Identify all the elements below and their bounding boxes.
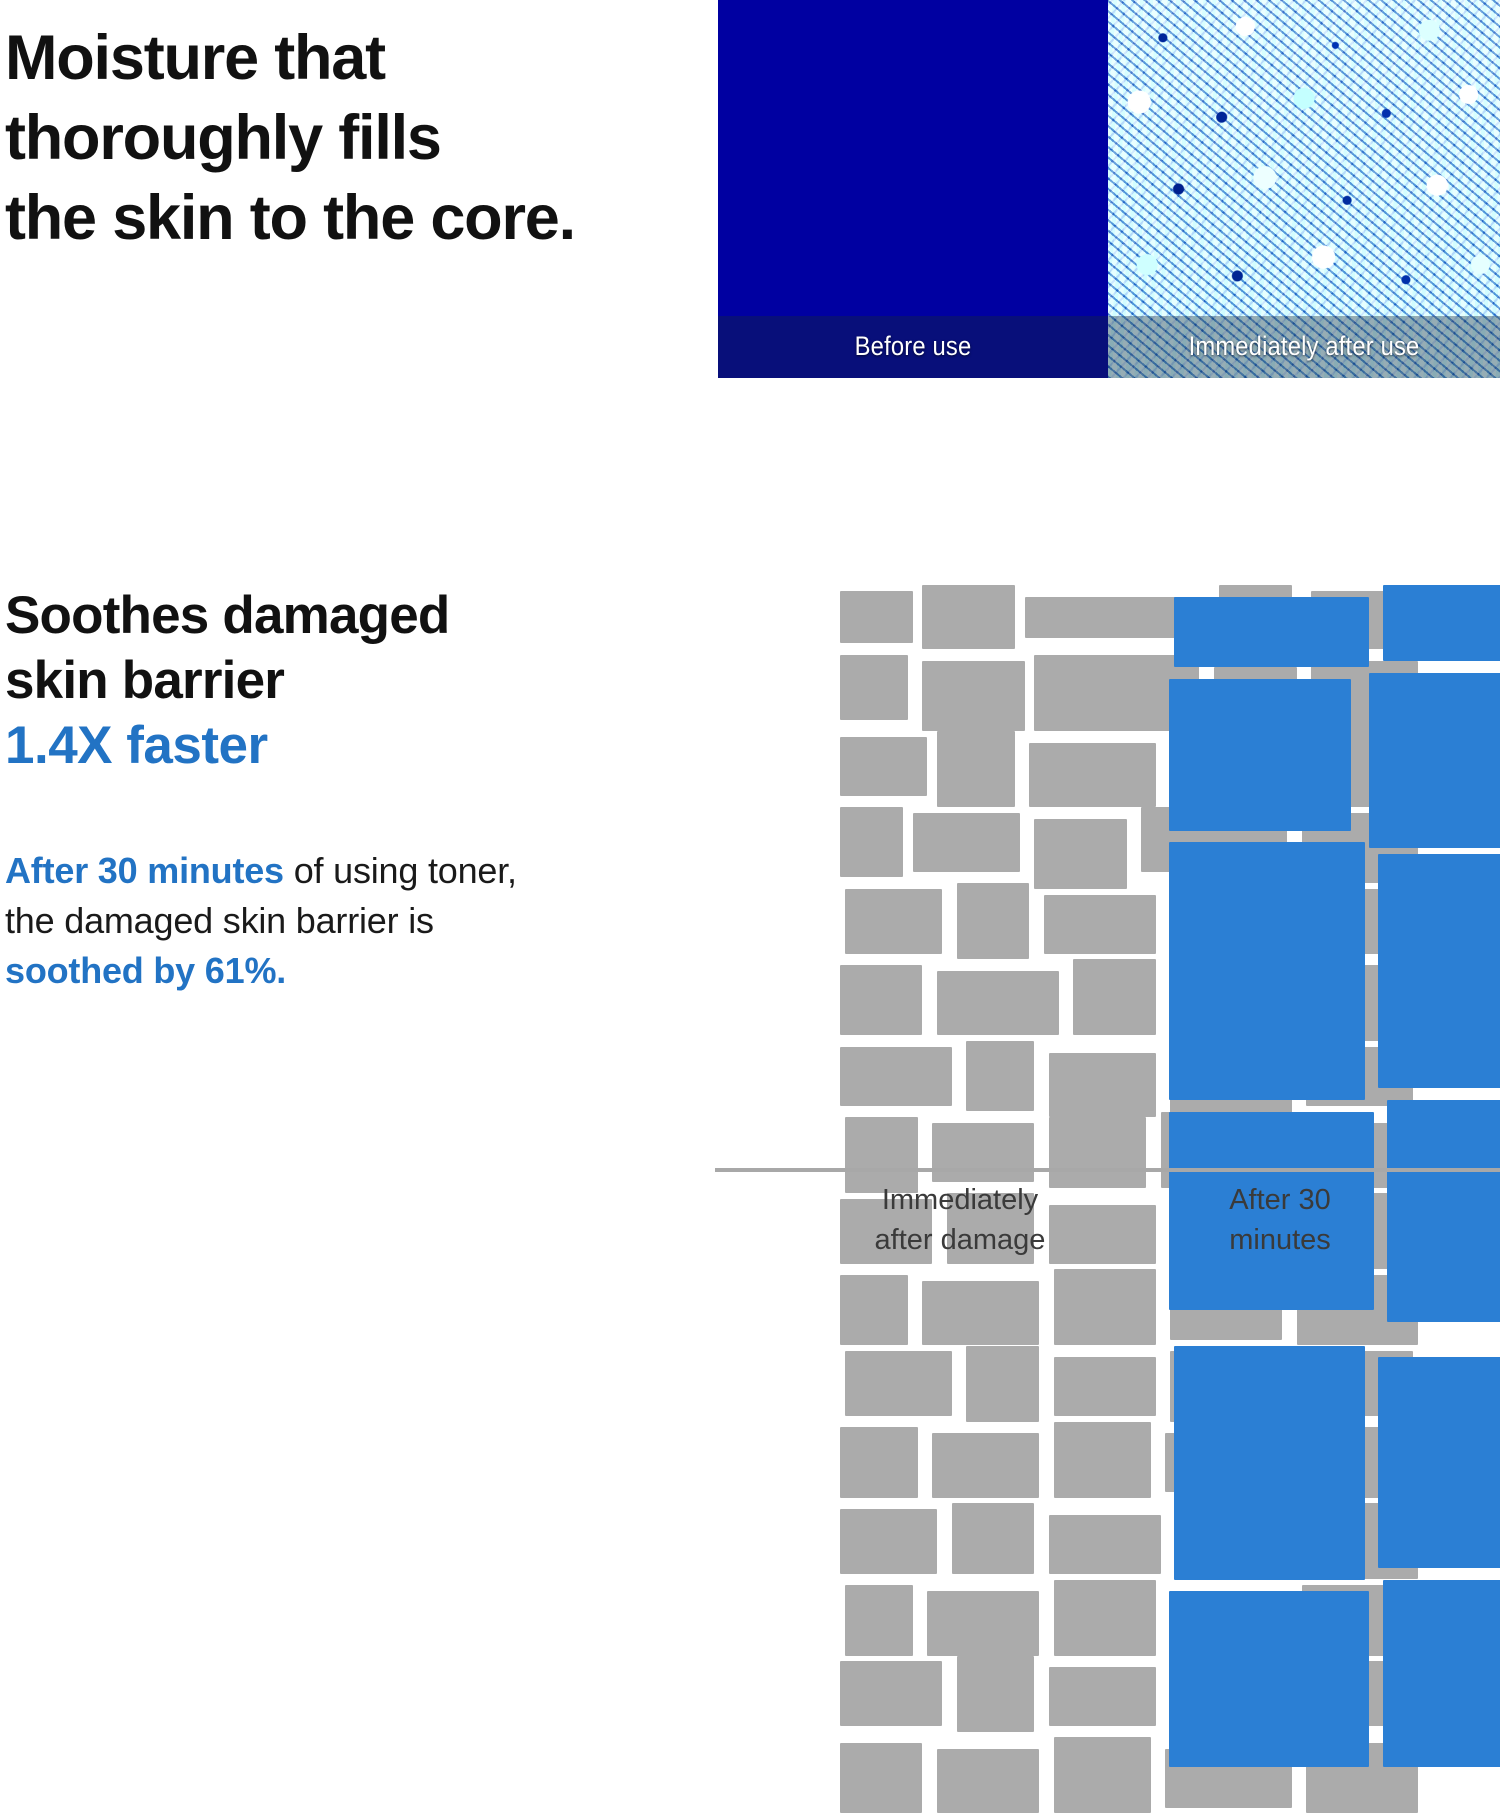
axis-label-line-1: Immediately (800, 1180, 1120, 1220)
microscopy-panel-after: Immediately after use (1108, 0, 1500, 378)
barrier-headline-line-2: skin barrier (5, 648, 685, 713)
barrier-brick (932, 1433, 1039, 1497)
axis-label-line-2: minutes (1140, 1220, 1420, 1260)
barrier-brick (840, 1047, 952, 1106)
barrier-brick (840, 1661, 942, 1725)
barrier-brick (1054, 1422, 1151, 1498)
moisture-headline: Moisture that thoroughly fills the skin … (5, 18, 705, 258)
chart-baseline-axis (715, 1168, 1500, 1172)
barrier-brick (957, 883, 1030, 959)
barrier-brick (913, 813, 1020, 872)
barrier-brick (1073, 959, 1156, 1035)
barrier-headline-line-1: Soothes damaged (5, 583, 685, 648)
barrier-brick (1054, 1580, 1156, 1656)
barrier-brick (922, 661, 1024, 731)
barrier-brick (1174, 1346, 1365, 1580)
bar-after-30-minutes (1165, 585, 1387, 1170)
barrier-recovery-chart: Immediately after damage After 30 minute… (715, 585, 1500, 1260)
barrier-brick (840, 1427, 918, 1497)
bar-immediately-after-damage (835, 585, 1078, 1170)
barrier-brick (840, 1509, 937, 1573)
barrier-brick (840, 1743, 923, 1813)
barrier-brick (1049, 1667, 1156, 1726)
barrier-brick (1169, 679, 1351, 831)
axis-label-immediately-after-damage: Immediately after damage (800, 1180, 1120, 1260)
barrier-brick (840, 965, 923, 1035)
barrier-brick (1054, 1737, 1151, 1813)
axis-label-line-2: after damage (800, 1220, 1120, 1260)
headline-line-1: Moisture that (5, 18, 705, 98)
barrier-brick (840, 1275, 908, 1345)
barrier-brick (1054, 1357, 1156, 1416)
barrier-brick (937, 1749, 1039, 1813)
barrier-body-copy: After 30 minutes of using toner, the dam… (5, 846, 565, 996)
barrier-brick (1174, 597, 1369, 667)
headline-line-2: thoroughly fills (5, 98, 705, 178)
barrier-brick (840, 591, 913, 644)
barrier-brick (927, 1591, 1039, 1655)
barrier-brick (840, 737, 927, 796)
barrier-brick (840, 807, 903, 877)
barrier-brick (1054, 1269, 1156, 1345)
barrier-brick (1044, 895, 1156, 954)
barrier-brick (957, 1656, 1035, 1732)
barrier-brick (1049, 1515, 1161, 1574)
barrier-brick (932, 1123, 1034, 1182)
barrier-brick (1378, 1357, 1500, 1568)
barrier-brick (1049, 1053, 1156, 1117)
barrier-brick (1169, 1591, 1369, 1767)
barrier-brick (1169, 842, 1364, 1099)
barrier-brick (937, 971, 1059, 1035)
barrier-brick (1034, 819, 1126, 889)
barrier-brick (966, 1041, 1034, 1111)
barrier-headline: Soothes damaged skin barrier 1.4X faster (5, 583, 685, 779)
barrier-brick (1378, 854, 1500, 1088)
barrier-brick (922, 585, 1014, 649)
barrier-brick (845, 1351, 952, 1415)
microscopy-caption-before: Before use (741, 331, 1084, 362)
barrier-headline-accent: 1.4X faster (5, 713, 685, 779)
barrier-brick (922, 1281, 1039, 1345)
barrier-brick (1049, 1117, 1146, 1187)
barrier-brick (966, 1346, 1039, 1422)
barrier-brick (1369, 673, 1500, 849)
axis-label-after-30-minutes: After 30 minutes (1140, 1180, 1420, 1260)
body-copy-bold-2: soothed by 61%. (5, 950, 286, 991)
barrier-brick (937, 731, 1015, 807)
barrier-brick (1383, 1580, 1500, 1767)
microscopy-caption-after: Immediately after use (1132, 331, 1477, 362)
microscopy-comparison-figure: Before use Immediately after use (718, 0, 1500, 378)
barrier-brick (1029, 743, 1155, 807)
barrier-brick (845, 889, 942, 953)
headline-line-3: the skin to the core. (5, 178, 705, 258)
microscopy-panel-before: Before use (718, 0, 1108, 378)
barrier-brick (1383, 585, 1500, 661)
barrier-brick (845, 1585, 913, 1655)
body-copy-bold-1: After 30 minutes (5, 850, 284, 891)
barrier-brick (840, 655, 908, 719)
axis-label-line-1: After 30 (1140, 1180, 1420, 1220)
barrier-brick (952, 1503, 1035, 1573)
